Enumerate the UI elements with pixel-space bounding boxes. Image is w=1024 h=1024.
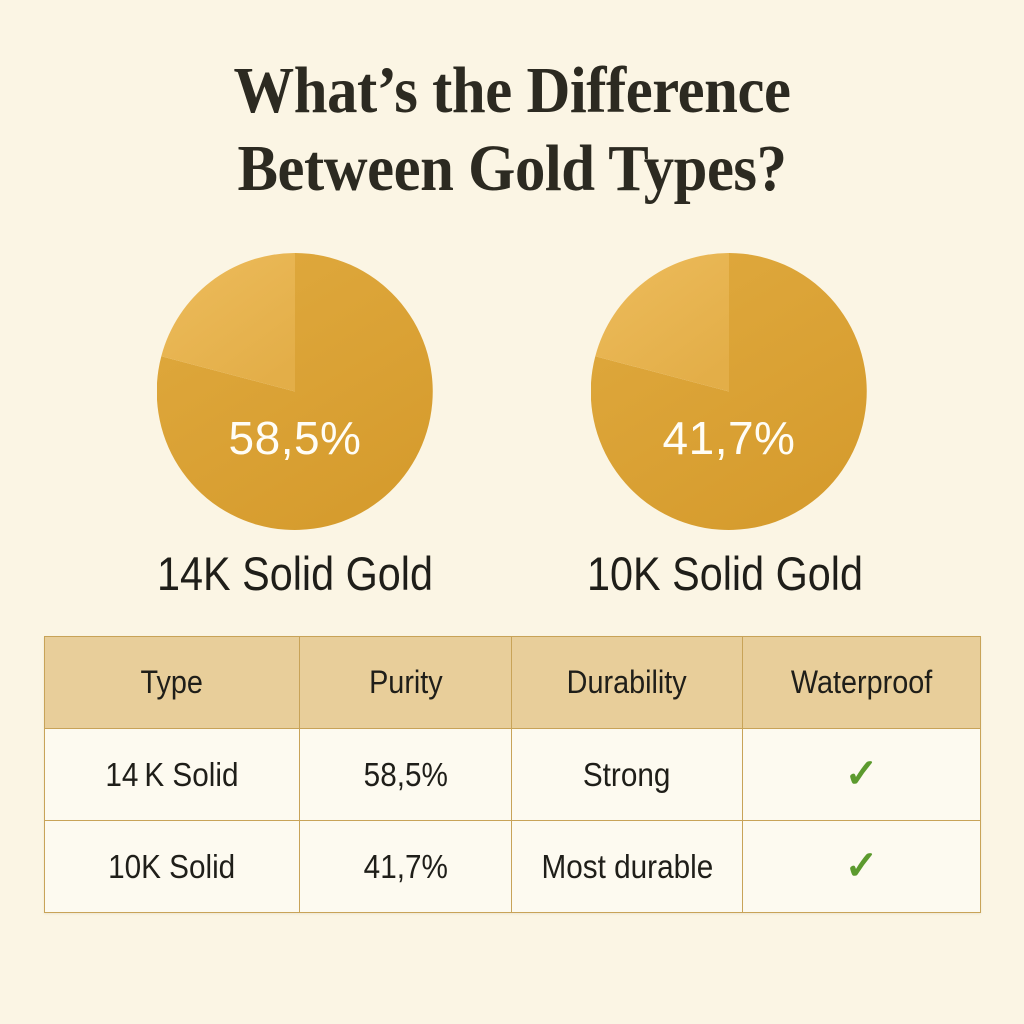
infographic-canvas: What’s the Difference Between Gold Types… [0, 0, 1024, 1024]
cell-type-value: 10K Solid [108, 848, 235, 886]
checkmark-icon: ✓ [845, 846, 879, 886]
cell-type-value: 14 K Solid [105, 756, 238, 794]
column-header-purity-label: Purity [369, 664, 443, 701]
column-header-purity: Purity [300, 637, 512, 729]
pie-chart-14k: 58,5% [157, 253, 433, 530]
cell-durability: Strong [512, 729, 743, 821]
page-title: What’s the Difference Between Gold Types… [41, 52, 983, 208]
cell-purity: 58,5% [300, 729, 512, 821]
column-header-type: Type [45, 637, 300, 729]
comparison-table: Type Purity Durability Waterproof 14 K S… [44, 636, 981, 913]
cell-type: 10K Solid [45, 821, 300, 913]
column-header-durability-label: Durability [567, 664, 687, 701]
table-body: 14 K Solid 58,5% Strong ✓ 10K Solid 41,7… [45, 729, 981, 913]
cell-waterproof: ✓ [743, 729, 981, 821]
table-header: Type Purity Durability Waterproof [45, 637, 981, 729]
table-row: 10K Solid 41,7% Most durable ✓ [45, 821, 981, 913]
pie-chart-10k-caption: 10K Solid Gold [523, 546, 928, 602]
cell-durability-value: Strong [583, 756, 671, 794]
pie-chart-10k-svg [591, 253, 867, 530]
column-header-durability: Durability [512, 637, 743, 729]
cell-purity-value: 58,5% [363, 756, 447, 794]
title-line-1: What’s the Difference [41, 52, 983, 130]
column-header-type-label: Type [141, 664, 203, 701]
column-header-waterproof: Waterproof [743, 637, 981, 729]
cell-purity-value: 41,7% [363, 848, 447, 886]
cell-type: 14 K Solid [45, 729, 300, 821]
pie-chart-14k-svg [157, 253, 433, 530]
column-header-waterproof-label: Waterproof [791, 664, 932, 701]
cell-durability-value: Most durable [541, 848, 713, 886]
title-line-2: Between Gold Types? [41, 130, 983, 208]
cell-durability: Most durable [512, 821, 743, 913]
checkmark-icon: ✓ [845, 754, 879, 794]
pie-chart-10k: 41,7% [591, 253, 867, 530]
cell-waterproof: ✓ [743, 821, 981, 913]
table-header-row: Type Purity Durability Waterproof [45, 637, 981, 729]
pie-chart-14k-caption: 14K Solid Gold [93, 546, 498, 602]
table-row: 14 K Solid 58,5% Strong ✓ [45, 729, 981, 821]
cell-purity: 41,7% [300, 821, 512, 913]
